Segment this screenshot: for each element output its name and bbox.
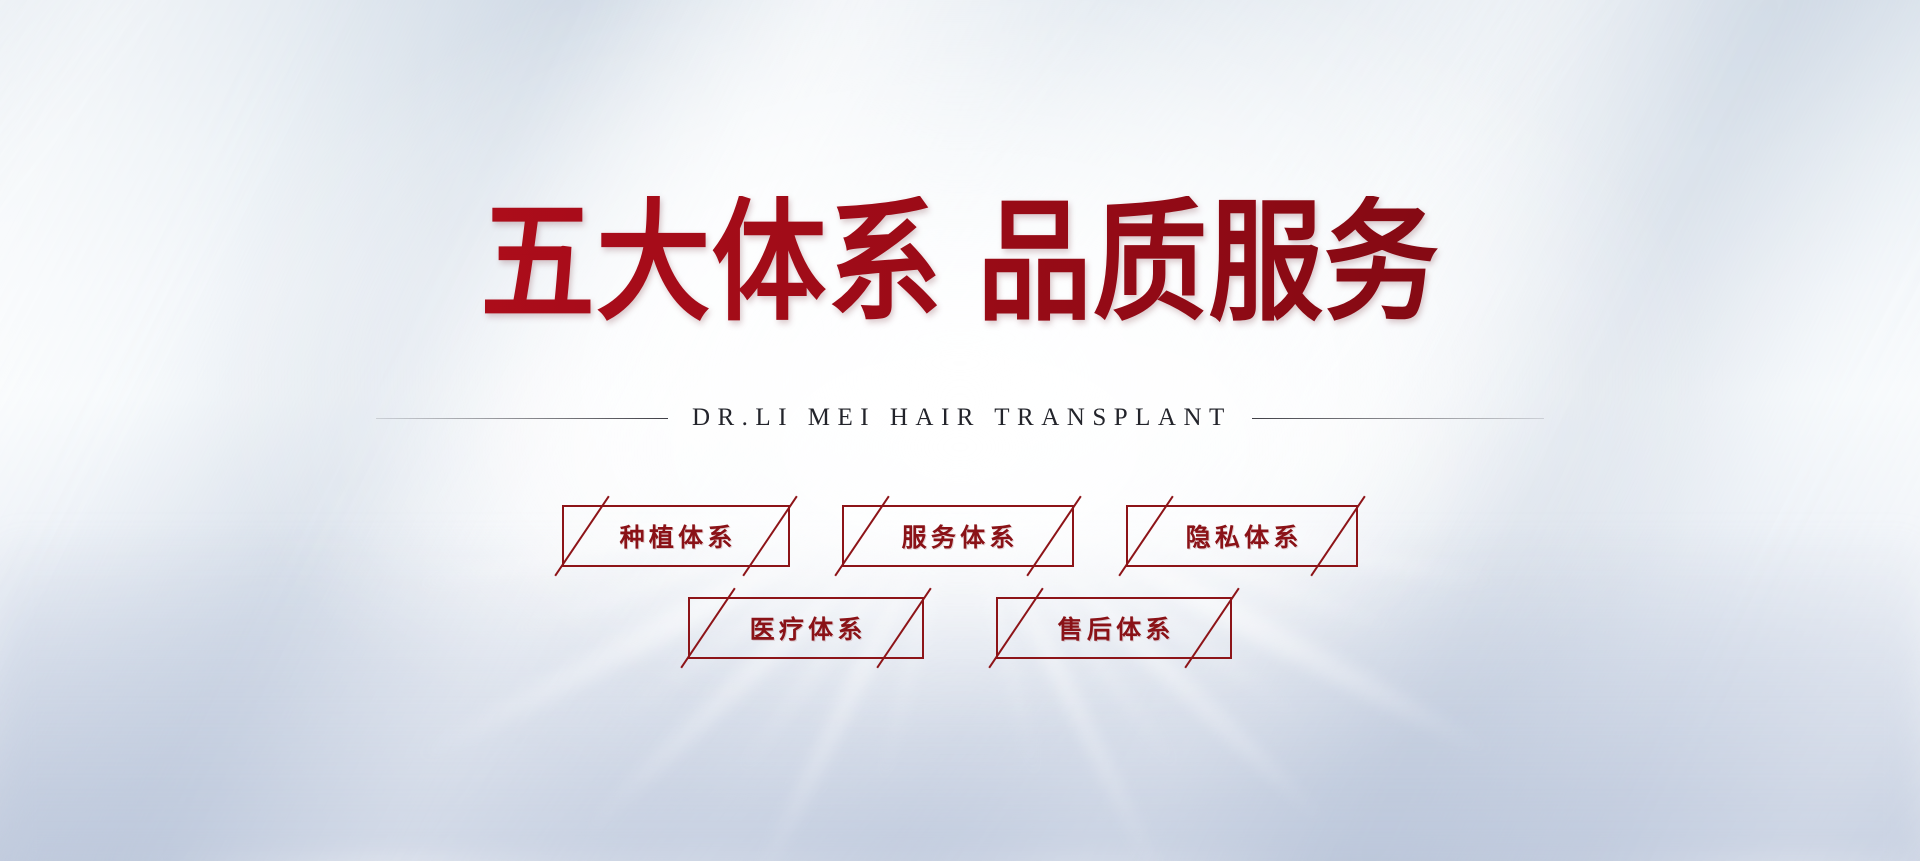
tag-row-1: 种植体系 服务体系 隐私体系 [0, 505, 1920, 567]
slash-icon [1184, 588, 1239, 669]
tag-aftersales-system[interactable]: 售后体系 [996, 597, 1232, 659]
tag-medical-system[interactable]: 医疗体系 [688, 597, 924, 659]
tag-service-system[interactable]: 服务体系 [842, 505, 1074, 567]
tag-label: 服务体系 [897, 518, 1018, 554]
slash-icon [988, 588, 1043, 669]
slash-icon [680, 588, 735, 669]
tag-label: 种植体系 [615, 518, 736, 554]
tag-label: 医疗体系 [745, 610, 866, 646]
banner-content: 五大体系品质服务 DR.LI MEI HAIR TRANSPLANT 种植体系 … [0, 0, 1920, 861]
tag-row-2: 医疗体系 售后体系 [0, 597, 1920, 659]
tag-planting-system[interactable]: 种植体系 [562, 505, 790, 567]
subtitle-rule-left [376, 418, 668, 419]
slash-icon [876, 588, 931, 669]
slash-icon [554, 496, 609, 577]
headline-part-1: 五大体系 [480, 184, 942, 340]
slash-icon [1310, 496, 1365, 577]
tag-privacy-system[interactable]: 隐私体系 [1126, 505, 1358, 567]
tag-label: 售后体系 [1053, 610, 1174, 646]
subtitle-text: DR.LI MEI HAIR TRANSPLANT [688, 404, 1232, 432]
slash-icon [834, 496, 889, 577]
subtitle-row: DR.LI MEI HAIR TRANSPLANT [0, 404, 1920, 432]
promo-banner: 五大体系品质服务 DR.LI MEI HAIR TRANSPLANT 种植体系 … [0, 0, 1920, 861]
slash-icon [1118, 496, 1173, 577]
slash-icon [1026, 496, 1081, 577]
tag-group: 种植体系 服务体系 隐私体系 医疗体系 [0, 505, 1920, 659]
headline-part-2: 品质服务 [977, 184, 1439, 340]
subtitle-rule-right [1252, 418, 1544, 419]
slash-icon [742, 496, 797, 577]
tag-label: 隐私体系 [1181, 518, 1302, 554]
page-title: 五大体系品质服务 [29, 196, 1891, 328]
